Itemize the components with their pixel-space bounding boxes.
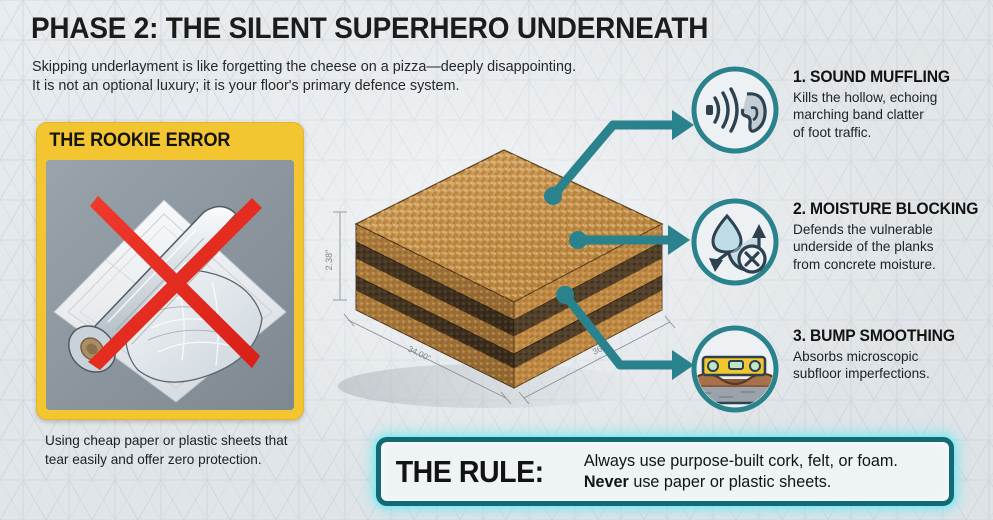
dimension-height [333, 212, 347, 300]
page-subtitle: Skipping underlayment is like forgetting… [32, 58, 652, 95]
water-droplet-shield-icon [689, 196, 781, 288]
rookie-error-image [46, 160, 294, 410]
rule-label: THE RULE: [381, 454, 544, 490]
page-title: PHASE 2: THE SILENT SUPERHERO UNDERNEATH [31, 12, 708, 46]
benefit-3-heading: 3. BUMP SMOOTHING [793, 327, 975, 346]
benefit-3-line-1: Absorbs microscopic [793, 348, 985, 365]
benefit-2-body: Defends the vulnerable underside of the … [793, 221, 985, 273]
cork-slab-illustration: 2.38" 34.00" 36" [318, 140, 690, 410]
benefit-1-body: Kills the hollow, echoing marching band … [793, 89, 985, 141]
rule-line-2: Never use paper or plastic sheets. [584, 472, 898, 493]
benefit-2-text: 2. MOISTURE BLOCKING Defends the vulnera… [793, 200, 985, 273]
rookie-error-caption: Using cheap paper or plastic sheets that… [45, 432, 307, 469]
dimension-height-label: 2.38" [324, 250, 334, 271]
benefit-2-heading: 2. MOISTURE BLOCKING [793, 200, 975, 219]
rookie-error-heading: THE ROOKIE ERROR [37, 130, 230, 152]
benefit-2-line-2: underside of the planks [793, 238, 985, 255]
benefit-2-line-3: from concrete moisture. [793, 256, 985, 273]
benefit-2-line-1: Defends the vulnerable [793, 221, 985, 238]
benefit-3-text: 3. BUMP SMOOTHING Absorbs microscopic su… [793, 327, 985, 383]
rule-line-1: Always use purpose-built cork, felt, or … [584, 451, 898, 472]
benefit-1-line-1: Kills the hollow, echoing [793, 89, 985, 106]
rookie-error-card: THE ROOKIE ERROR [36, 122, 304, 420]
rule-body: Always use purpose-built cork, felt, or … [584, 451, 898, 493]
ear-soundwave-icon [689, 64, 781, 156]
benefit-1-line-3: of foot traffic. [793, 124, 985, 141]
benefit-3-line-2: subfloor imperfections. [793, 365, 985, 382]
benefit-1-line-2: marching band clatter [793, 106, 985, 123]
dimension-width-label: 34.00" [406, 343, 432, 363]
rule-line-2-rest: use paper or plastic sheets. [629, 473, 831, 491]
rookie-error-header: THE ROOKIE ERROR [37, 123, 303, 159]
benefit-1-text: 1. SOUND MUFFLING Kills the hollow, echo… [793, 68, 985, 141]
benefit-3-body: Absorbs microscopic subfloor imperfectio… [793, 348, 985, 383]
spirit-level-subfloor-icon [689, 323, 781, 415]
subtitle-line-2: It is not an optional luxury; it is your… [32, 77, 652, 96]
rule-banner: THE RULE: Always use purpose-built cork,… [376, 437, 954, 506]
subtitle-line-1: Skipping underlayment is like forgetting… [32, 58, 652, 77]
infographic-canvas: PHASE 2: THE SILENT SUPERHERO UNDERNEATH… [0, 0, 993, 520]
rule-never-emphasis: Never [584, 473, 629, 491]
benefit-1-heading: 1. SOUND MUFFLING [793, 68, 975, 87]
